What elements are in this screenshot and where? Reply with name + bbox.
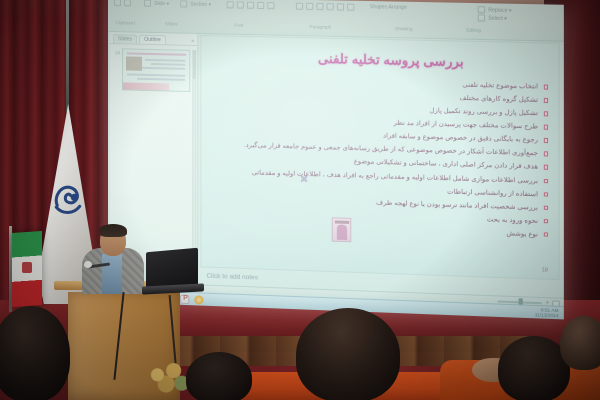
bullet-square-icon bbox=[543, 84, 548, 89]
audience-head bbox=[296, 308, 400, 400]
group-label-paragraph: Paragraph bbox=[278, 24, 364, 37]
group-label-clipboard: Clipboard bbox=[108, 20, 142, 32]
clipboard-group-icons[interactable] bbox=[114, 0, 131, 6]
clock-date: 11/13/2014 bbox=[535, 312, 559, 318]
bullet-square-icon bbox=[543, 192, 548, 197]
section-menu-label[interactable]: Section ▾ bbox=[190, 1, 211, 7]
select-icon[interactable] bbox=[478, 14, 485, 21]
font-color-icon[interactable] bbox=[257, 2, 264, 9]
bullet-square-icon bbox=[543, 205, 548, 210]
tab-outline[interactable]: Outline bbox=[139, 35, 166, 45]
text-cursor-icon: ⌘ bbox=[300, 176, 307, 185]
paragraph-group-icons[interactable] bbox=[296, 3, 354, 11]
bullet-square-icon bbox=[543, 98, 548, 103]
slide-canvas[interactable]: بررسی پروسه تخلیه تلفنی انتخاب موضوع تخل… bbox=[200, 35, 559, 280]
bullet-square-icon bbox=[543, 125, 548, 130]
thumbnail-text-line bbox=[145, 59, 185, 61]
thumbnail-image-block bbox=[126, 56, 142, 70]
replace-label[interactable]: Replace ▾ bbox=[488, 7, 511, 14]
thumbnail-text-line bbox=[127, 73, 185, 76]
presenter-hair bbox=[99, 224, 127, 237]
pane-scrollbar[interactable] bbox=[192, 50, 196, 261]
presenter-shirt bbox=[102, 254, 122, 294]
bullet-square-icon bbox=[543, 152, 548, 157]
new-slide-control[interactable]: Slide ▾ bbox=[144, 0, 169, 7]
thumbnail-number: 18 bbox=[115, 48, 120, 90]
font-group-icons[interactable] bbox=[227, 1, 275, 9]
align-right-icon[interactable] bbox=[316, 3, 323, 10]
bold-icon[interactable] bbox=[227, 1, 234, 8]
align-left-icon[interactable] bbox=[296, 3, 303, 10]
ribbon-commands-row: Slide ▾ Section ▾ bbox=[108, 0, 564, 22]
group-label-drawing: Drawing bbox=[364, 25, 445, 38]
line-spacing-icon[interactable] bbox=[337, 3, 344, 10]
bullet-square-icon bbox=[543, 232, 548, 237]
section-control[interactable]: Section ▾ bbox=[180, 0, 211, 8]
slide-menu-label[interactable]: Slide ▾ bbox=[154, 0, 169, 6]
thumbnail-title-bar bbox=[127, 52, 186, 55]
bullet-square-icon bbox=[543, 179, 548, 184]
replace-icon[interactable] bbox=[478, 6, 485, 13]
microphone-head-icon bbox=[84, 261, 92, 268]
audience-head bbox=[560, 316, 600, 370]
slide-title[interactable]: بررسی پروسه تخلیه تلفنی bbox=[242, 49, 542, 72]
scrollbar-thumb[interactable] bbox=[193, 51, 195, 79]
media-player-icon[interactable] bbox=[195, 295, 204, 304]
align-center-icon[interactable] bbox=[306, 3, 313, 10]
font-size-icon[interactable] bbox=[267, 2, 274, 9]
shapes-arrange-label[interactable]: Shapes Arrange bbox=[370, 4, 407, 11]
iran-emblem-icon bbox=[22, 262, 32, 273]
lecture-hall-photo: Slide ▾ Section ▾ bbox=[0, 0, 600, 400]
new-slide-icon[interactable] bbox=[144, 0, 151, 7]
slide-bullet-list[interactable]: انتخاب موضوع تخلیه تلفنی تشکیل گروه کاره… bbox=[218, 75, 548, 244]
thumbnail-footer-band bbox=[123, 82, 169, 90]
slide-number: 18 bbox=[542, 267, 548, 273]
flag-pole bbox=[66, 0, 69, 112]
bullet-square-icon bbox=[543, 165, 548, 170]
section-icon[interactable] bbox=[180, 0, 187, 7]
drawing-group-controls[interactable]: Shapes Arrange bbox=[370, 4, 407, 11]
institution-logo-icon bbox=[50, 178, 86, 222]
tab-slides[interactable]: Slides bbox=[113, 34, 137, 44]
bullet-square-icon bbox=[543, 111, 548, 116]
thumbnail-text-line bbox=[142, 67, 185, 70]
justify-icon[interactable] bbox=[327, 3, 334, 10]
underline-icon[interactable] bbox=[247, 2, 254, 9]
audience-head bbox=[186, 352, 252, 400]
taskbar-clock[interactable]: 9:51 AM 11/13/2014 bbox=[535, 307, 559, 318]
select-control[interactable]: Select ▾ bbox=[478, 14, 507, 22]
bullet-square-icon bbox=[543, 219, 548, 224]
italic-icon[interactable] bbox=[237, 2, 244, 9]
slide-thumbnail[interactable] bbox=[122, 48, 190, 92]
pane-tab-strip[interactable]: Slides Outline × bbox=[110, 32, 197, 46]
paste-icon[interactable] bbox=[114, 0, 121, 6]
thumbnail-text-line bbox=[137, 78, 185, 81]
group-label-font: Font bbox=[200, 22, 277, 35]
slide-thumbnail-item[interactable]: 18 bbox=[115, 48, 190, 92]
replace-control[interactable]: Replace ▾ bbox=[478, 6, 512, 14]
cut-icon[interactable] bbox=[124, 0, 131, 6]
close-icon[interactable]: × bbox=[191, 39, 194, 45]
group-label-slides: Slides bbox=[142, 21, 200, 33]
select-label[interactable]: Select ▾ bbox=[488, 15, 507, 22]
group-label-editing: Editing bbox=[444, 27, 502, 39]
thumbnail-text-line bbox=[151, 63, 185, 65]
slide-image-placeholder[interactable] bbox=[332, 217, 352, 242]
columns-icon[interactable] bbox=[347, 4, 354, 11]
bullet-square-icon bbox=[543, 138, 548, 143]
